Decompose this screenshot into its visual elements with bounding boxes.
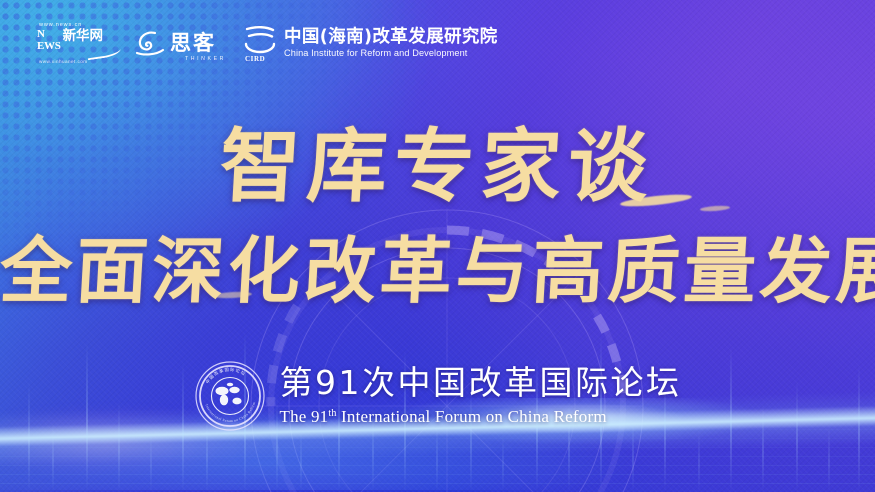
light-streak bbox=[300, 428, 302, 492]
sponsor-logo-bar: www.news.cn N EWS 新华网 www.xinhuanet.com … bbox=[33, 22, 498, 64]
xinhua-letter-n: N bbox=[37, 29, 45, 41]
cird-text-block: 中国(海南)改革发展研究院 China Institute for Reform… bbox=[284, 28, 498, 59]
forum-text-block: 第91次中国改革国际论坛 The 91th International Foru… bbox=[280, 364, 682, 428]
xinhua-news-letters: N EWS bbox=[37, 29, 61, 52]
logo-cird[interactable]: CIRD 中国(海南)改革发展研究院 China Institute for R… bbox=[243, 24, 498, 62]
title-line-2: 全面深化改革与高质量发展 bbox=[0, 232, 875, 310]
light-streak bbox=[436, 422, 438, 492]
forum-title-zh: 第91次中国改革国际论坛 bbox=[280, 364, 682, 402]
logo-sike-thinker[interactable]: 思客 THINKER bbox=[135, 23, 227, 63]
light-streak bbox=[502, 434, 504, 492]
cird-english-name: China Institute for Reform and Developme… bbox=[284, 47, 498, 59]
sike-english-name: THINKER bbox=[185, 56, 226, 62]
forum-title-en-sup: th bbox=[328, 408, 336, 419]
forum-lockup: 中国改革国际论坛 International Forum on China Re… bbox=[0, 360, 875, 432]
cird-abbr: CIRD bbox=[245, 55, 265, 63]
sike-chinese-name: 思客 bbox=[170, 32, 216, 54]
poster-canvas: www.news.cn N EWS 新华网 www.xinhuanet.com … bbox=[0, 0, 875, 492]
forum-title-en-pre: The 91 bbox=[280, 407, 329, 426]
cird-chinese-name: 中国(海南)改革发展研究院 bbox=[284, 28, 498, 47]
spiral-wave-icon bbox=[135, 28, 165, 58]
light-streak bbox=[828, 426, 830, 492]
title-line-1: 智库专家谈 bbox=[0, 124, 875, 210]
light-streak bbox=[698, 430, 700, 492]
logo-xinhuanet[interactable]: www.news.cn N EWS 新华网 www.xinhuanet.com bbox=[33, 22, 117, 64]
cird-emblem-icon: CIRD bbox=[243, 24, 277, 62]
xinhua-letters-ews: EWS bbox=[37, 41, 61, 53]
forum-title-en: The 91th International Forum on China Re… bbox=[280, 403, 607, 428]
forum-emblem-icon: 中国改革国际论坛 International Forum on China Re… bbox=[194, 360, 266, 432]
xinhua-url-bottom: www.xinhuanet.com bbox=[39, 59, 88, 64]
light-streak bbox=[150, 432, 152, 492]
forum-title-en-post: International Forum on China Reform bbox=[337, 407, 607, 426]
light-streak bbox=[52, 422, 54, 492]
